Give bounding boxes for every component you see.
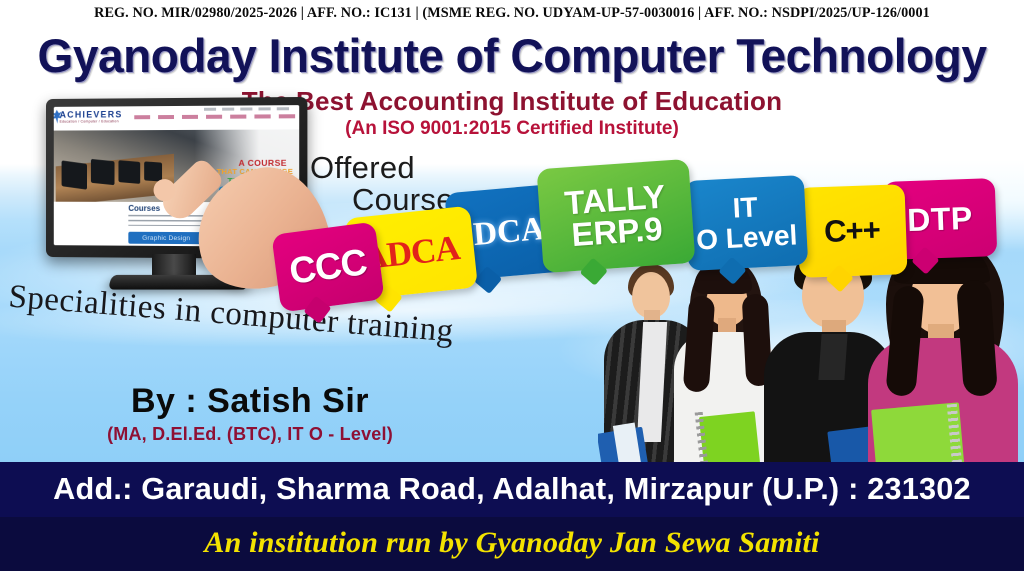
course-badge-tally-label: TALLY ERP.9: [563, 181, 668, 252]
instructor-qualifications: (MA, D.El.Ed. (BTC), IT O - Level): [40, 424, 460, 445]
institute-title: Gyanoday Institute of Computer Technolog…: [10, 28, 1014, 84]
course-badge-tally[interactable]: TALLY ERP.9: [537, 159, 696, 273]
screen-header-bar: ACHIEVERS Education / Computer / Educati…: [54, 105, 299, 130]
screen-hero-monitor: [62, 160, 87, 189]
course-badge-tally-line2: ERP.9: [570, 210, 663, 253]
registration-line: REG. NO. MIR/02980/2025-2026 | AFF. NO.:…: [0, 5, 1024, 22]
screen-hero-monitor: [144, 161, 162, 181]
screen-hero-monitor: [118, 160, 140, 184]
screen-button-graphic-design-label: Graphic Design: [142, 234, 190, 241]
instructor-name: By : Satish Sir: [60, 382, 440, 421]
screen-site-logo-text: ACHIEVERS: [60, 109, 123, 119]
run-by-text: An institution run by Gyanoday Jan Sewa …: [0, 526, 1024, 560]
screen-site-logo: ACHIEVERS Education / Computer / Educati…: [60, 109, 123, 123]
screen-site-logo-sub: Education / Computer / Education: [60, 119, 123, 123]
offered-course-heading: Offered Course: [310, 150, 454, 218]
course-badge-cpp-label: C++: [824, 212, 881, 250]
course-badge-cpp[interactable]: C++: [796, 184, 907, 278]
course-badge-dca-label: DCA: [472, 210, 546, 253]
poster-root: REG. NO. MIR/02980/2025-2026 | AFF. NO.:…: [0, 0, 1024, 571]
student2-notebook: [699, 411, 761, 464]
screen-topnav: [204, 107, 295, 110]
course-badge-it-olevel[interactable]: IT O Level: [684, 175, 809, 271]
monitor-stand-neck: [152, 254, 196, 276]
screen-hero-monitor: [91, 159, 115, 185]
address-bar: Add.: Garaudi, Sharma Road, Adalhat, Mir…: [0, 462, 1024, 517]
run-by-bar: An institution run by Gyanoday Jan Sewa …: [0, 517, 1024, 571]
course-badge-dtp-label: DTP: [907, 199, 974, 238]
screen-courses-heading: Courses: [128, 204, 160, 213]
offered-line1: Offered: [310, 150, 415, 185]
address-text: Add.: Garaudi, Sharma Road, Adalhat, Mir…: [5, 471, 1019, 507]
course-badge-it-line2: O Level: [695, 219, 798, 255]
course-badge-ccc-label: CCC: [287, 241, 369, 293]
course-badge-ccc[interactable]: CCC: [271, 222, 384, 313]
course-badge-it-olevel-label: IT O Level: [694, 190, 798, 255]
student3-collar: [818, 334, 847, 380]
course-badge-it-line1: IT: [732, 191, 758, 223]
screen-mainnav: [134, 114, 295, 119]
